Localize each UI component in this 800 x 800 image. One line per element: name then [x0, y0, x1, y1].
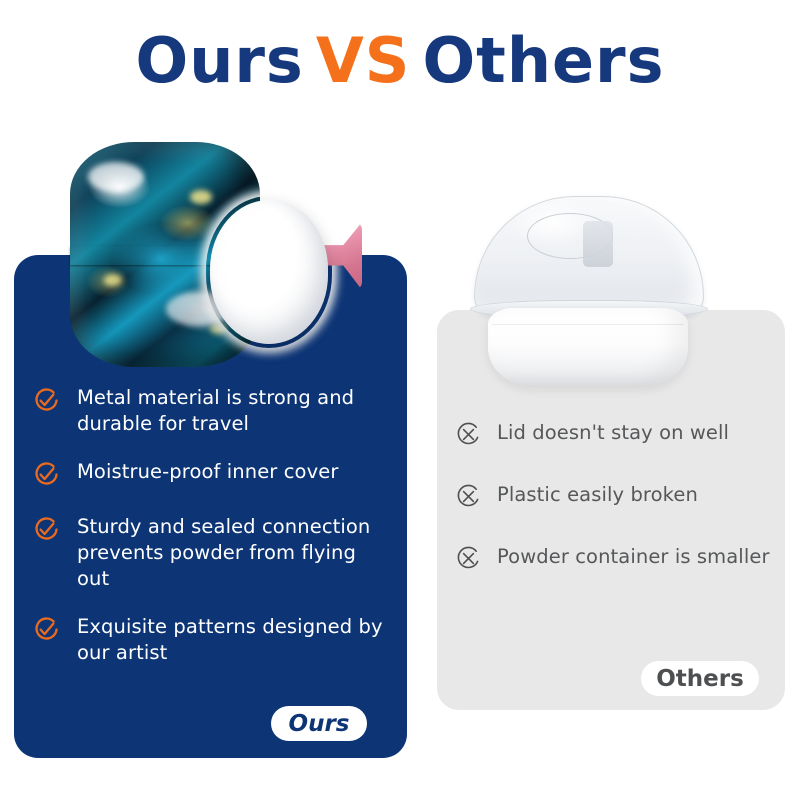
title-word-ours: Ours [136, 30, 304, 92]
powder-puff [210, 200, 328, 344]
circle-x-icon [455, 483, 482, 514]
dome-knob [583, 221, 613, 267]
ours-product-image [62, 138, 392, 378]
circle-check-icon [33, 516, 60, 547]
marble-highlight [88, 162, 144, 192]
ours-feature-list: Metal material is strong and durable for… [14, 385, 407, 688]
marble-gold-fleck [104, 274, 122, 286]
list-item: Powder container is smaller [437, 544, 797, 576]
page-title: OursVSOthers [0, 30, 800, 92]
list-item: Metal material is strong and durable for… [14, 385, 407, 437]
others-badge: Others [641, 661, 759, 696]
list-item: Plastic easily broken [437, 482, 797, 514]
circle-check-icon [33, 616, 60, 647]
list-item: Moistrue-proof inner cover [14, 459, 407, 492]
others-drawback-list: Lid doesn't stay on well Plastic easily … [437, 420, 797, 606]
list-item: Lid doesn't stay on well [437, 420, 797, 452]
circle-check-icon [33, 461, 60, 492]
title-word-vs: VS [316, 30, 411, 92]
list-item: Exquisite patterns designed by our artis… [14, 614, 407, 666]
circle-check-icon [33, 387, 60, 418]
title-word-others: Others [422, 30, 664, 92]
list-item-label: Moistrue-proof inner cover [77, 459, 338, 485]
clear-dome-lid [474, 196, 704, 316]
marble-gold-fleck [190, 190, 212, 204]
list-item: Sturdy and sealed connection prevents po… [14, 514, 407, 592]
others-product-image [462, 196, 722, 386]
list-item-label: Metal material is strong and durable for… [77, 385, 389, 437]
list-item-label: Plastic easily broken [497, 482, 698, 508]
list-item-label: Powder container is smaller [497, 544, 770, 570]
ours-badge: Ours [271, 706, 367, 741]
list-item-label: Sturdy and sealed connection prevents po… [77, 514, 389, 592]
list-item-label: Exquisite patterns designed by our artis… [77, 614, 389, 666]
circle-x-icon [455, 421, 482, 452]
white-container-base [488, 308, 688, 386]
circle-x-icon [455, 545, 482, 576]
base-seam-line [492, 324, 684, 325]
list-item-label: Lid doesn't stay on well [497, 420, 729, 446]
